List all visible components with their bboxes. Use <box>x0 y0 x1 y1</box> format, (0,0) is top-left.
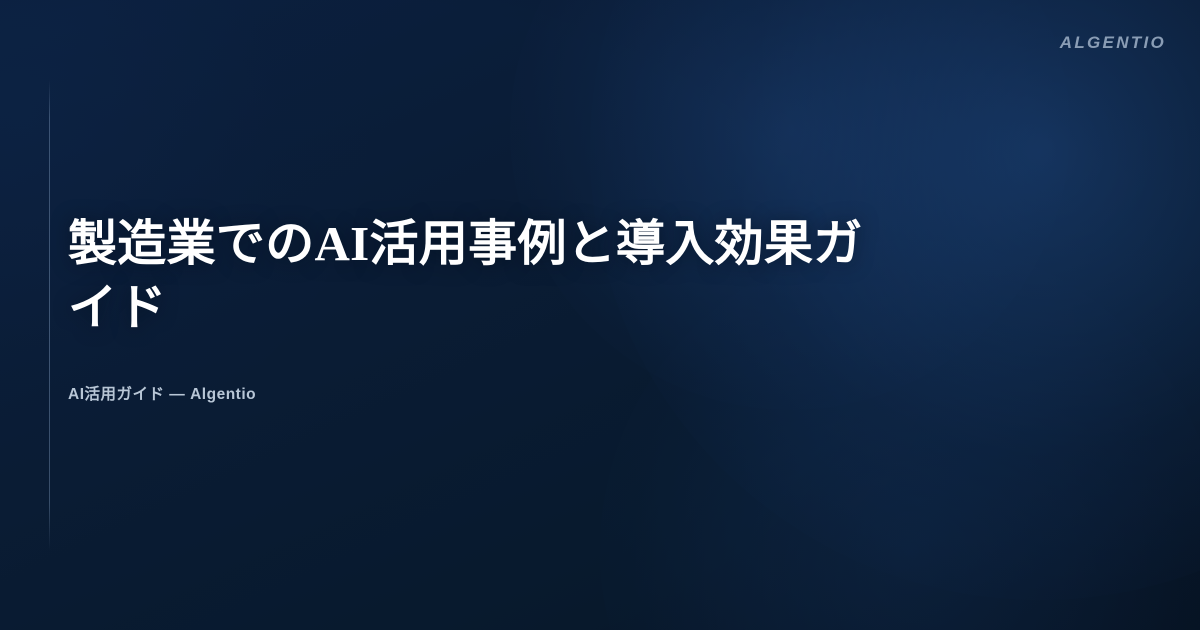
left-accent-rule <box>49 80 50 550</box>
page-subtitle: AI活用ガイド — Algentio <box>68 339 908 406</box>
og-hero-card: ALGENTIO 製造業でのAI活用事例と導入効果ガイド AI活用ガイド — A… <box>0 0 1200 630</box>
page-title: 製造業でのAI活用事例と導入効果ガイド <box>68 212 908 339</box>
hero-content: 製造業でのAI活用事例と導入効果ガイド AI活用ガイド — Algentio <box>68 212 908 406</box>
brand-logo: ALGENTIO <box>1060 34 1166 51</box>
